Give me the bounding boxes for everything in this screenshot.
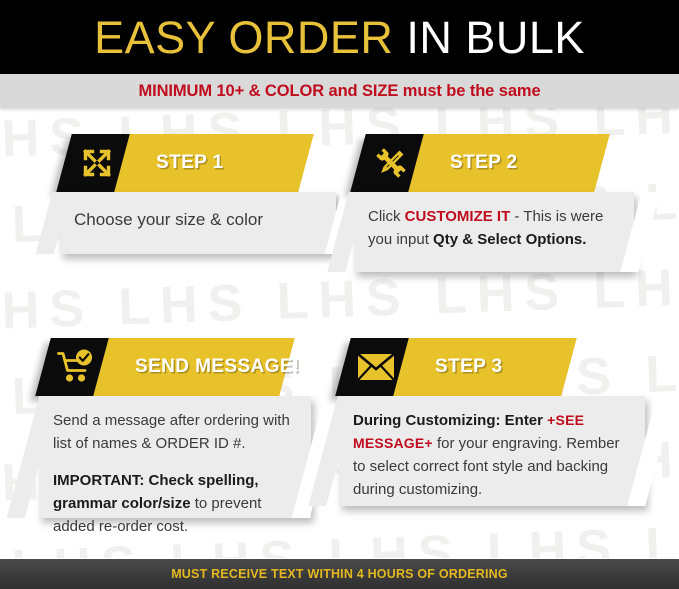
text-run: CUSTOMIZE IT [405,208,511,225]
page-title-white: IN BULK [406,12,585,63]
wrench-pencil-icon [372,144,410,182]
footer-bar: MUST RECEIVE TEXT WITHIN 4 HOURS OF ORDE… [0,559,679,589]
step-card-body: Send a message after ordering with list … [39,396,311,518]
page-title-gold: EASY ORDER [94,12,393,63]
subtitle-text: MINIMUM 10+ & COLOR and SIZE must be the… [138,82,540,101]
step-body-text: Click CUSTOMIZE IT - This is were you in… [354,192,634,263]
text-run: Send a message after ordering with list … [53,412,290,452]
step-card-header: SEND MESSAGE! [43,338,315,396]
cart-check-icon [56,349,96,385]
step-card-body: During Customizing: Enter +SEE MESSAGE+ … [339,396,645,506]
body-paragraph: Choose your size & color [74,208,320,231]
text-run: Qty & Select Options. [433,231,586,248]
body-paragraph: Send a message after ordering with list … [53,409,295,455]
footer-text: MUST RECEIVE TEXT WITHIN 4 HOURS OF ORDE… [171,567,508,581]
step-label-band: SEND MESSAGE! [93,338,295,396]
expand-arrows-icon [79,145,115,181]
step-label-band: STEP 3 [393,338,577,396]
step-label-band: STEP 2 [408,134,610,192]
step-card-step2: STEP 2 Click CUSTOMIZE IT - This is were… [358,134,638,272]
text-run: During Customizing: Enter [353,412,547,429]
step-card-header: STEP 1 [64,134,340,192]
step-card-step1: STEP 1 Choose your size & color [64,134,340,254]
text-run: Choose your size & color [74,210,263,229]
text-run: Click [368,208,405,225]
header-bar: EASY ORDER IN BULK [0,0,679,74]
step-card-header: STEP 3 [343,338,649,396]
text-run: IMPORTANT: [53,472,144,489]
step-label: SEND MESSAGE! [101,356,300,378]
step-label: STEP 3 [401,356,503,378]
body-paragraph: During Customizing: Enter +SEE MESSAGE+ … [353,409,629,501]
infographic-page: LHS LHS LHS LHS LHS LHS LHS LHS LHS LHS … [0,0,679,589]
step-label: STEP 1 [122,152,224,174]
body-paragraph: Click CUSTOMIZE IT - This is were you in… [368,205,618,251]
step-card-body: Choose your size & color [60,192,336,254]
page-title: EASY ORDER IN BULK [94,15,585,60]
step-body-text: Choose your size & color [60,192,336,243]
step-card-send-message: SEND MESSAGE! Send a message after order… [43,338,315,518]
step-card-header: STEP 2 [358,134,638,192]
step-label-band: STEP 1 [114,134,314,192]
step-label: STEP 2 [416,152,518,174]
step-card-step3: STEP 3 During Customizing: Enter +SEE ME… [343,338,649,506]
step-body-text: Send a message after ordering with list … [39,396,311,550]
text-run: color/size [121,495,190,512]
envelope-icon [356,352,396,382]
step-card-body: Click CUSTOMIZE IT - This is were you in… [354,192,634,272]
body-paragraph: IMPORTANT: Check spelling, grammar color… [53,469,295,538]
step-body-text: During Customizing: Enter +SEE MESSAGE+ … [339,396,645,513]
subtitle-bar: MINIMUM 10+ & COLOR and SIZE must be the… [0,74,679,108]
